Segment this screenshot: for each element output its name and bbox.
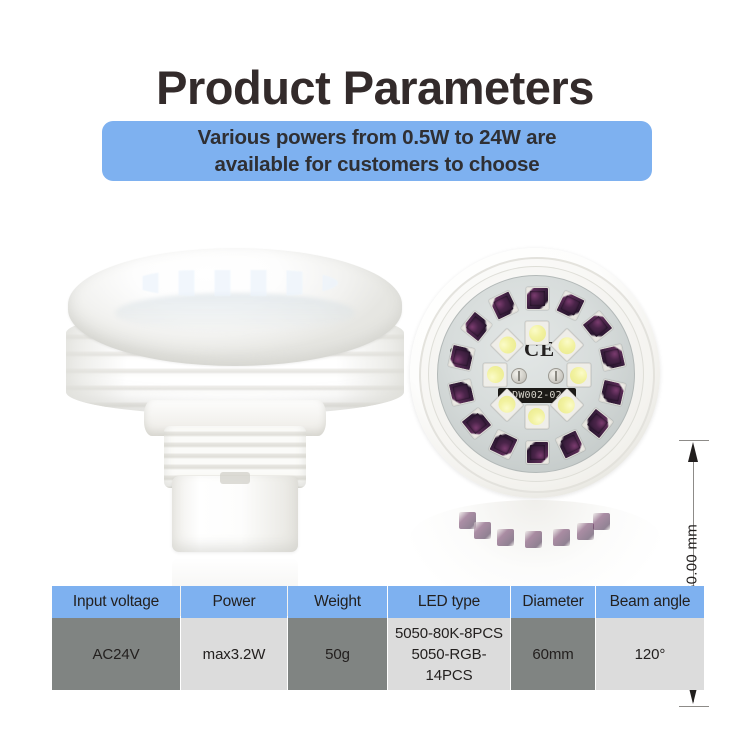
bulb-internal-leds <box>132 270 338 296</box>
reflection-led <box>497 529 514 546</box>
table-row: AC24V max3.2W 50g 5050-80K-8PCS 5050-RGB… <box>52 618 704 690</box>
powers-banner: Various powers from 0.5W to 24W are avai… <box>102 121 652 181</box>
header-led-type: LED type <box>388 586 510 618</box>
rgb-led <box>581 407 613 439</box>
value-led-type: 5050-80K-8PCS 5050-RGB-14PCS <box>388 618 510 690</box>
reflection-led <box>593 513 610 530</box>
dimension-extension-top <box>679 440 709 441</box>
rgb-led <box>598 378 626 406</box>
led-pcb: CE DW002-02 <box>437 275 635 473</box>
rgb-led <box>461 407 493 439</box>
rgb-led <box>598 344 626 372</box>
header-power: Power <box>181 586 287 618</box>
reflection-led <box>553 529 570 546</box>
value-power: max3.2W <box>181 618 287 690</box>
led-type-line-1: 5050-80K-8PCS <box>390 623 508 644</box>
led-module-front-view: CE DW002-02 <box>410 248 660 498</box>
banner-line-2: available for customers to choose <box>198 151 557 178</box>
header-beam-angle: Beam angle <box>596 586 704 618</box>
value-weight: 50g <box>288 618 387 690</box>
header-weight: Weight <box>288 586 387 618</box>
rgb-led <box>461 311 493 343</box>
rgb-led <box>448 344 476 372</box>
white-led <box>490 328 524 362</box>
banner-line-1: Various powers from 0.5W to 24W are <box>198 124 557 151</box>
value-input-voltage: AC24V <box>52 618 180 690</box>
rgb-led <box>526 441 549 464</box>
page-title: Product Parameters <box>0 60 750 116</box>
led-module-side-view <box>60 240 410 530</box>
reflection-led <box>474 522 491 539</box>
rgb-led <box>448 378 476 406</box>
table-header-row: Input voltage Power Weight LED type Diam… <box>52 586 704 618</box>
value-beam-angle: 120° <box>596 618 704 690</box>
rgb-led <box>555 290 586 321</box>
rgb-led <box>581 311 613 343</box>
arrow-up-icon <box>688 442 698 462</box>
banner-text: Various powers from 0.5W to 24W are avai… <box>198 124 557 178</box>
bulb-diffuser-dome <box>68 248 402 366</box>
rgb-led <box>555 429 586 460</box>
led-type-line-2: 5050-RGB-14PCS <box>390 644 508 686</box>
white-led <box>525 405 549 429</box>
rgb-led <box>526 287 549 310</box>
white-led <box>483 363 507 387</box>
bulb-connector-base <box>172 476 298 552</box>
pcb-screw-right <box>548 368 564 384</box>
header-input-voltage: Input voltage <box>52 586 180 618</box>
product-image-area: CE DW002-02 60.00 mm <box>0 200 750 590</box>
header-diameter: Diameter <box>511 586 595 618</box>
reflection-led <box>577 523 594 540</box>
rgb-led <box>488 290 519 321</box>
value-diameter: 60mm <box>511 618 595 690</box>
specification-table: Input voltage Power Weight LED type Diam… <box>51 586 705 690</box>
product-parameters-page: Product Parameters Various powers from 0… <box>0 0 750 750</box>
dimension-extension-bottom <box>679 706 709 707</box>
pcb-screw-left <box>511 368 527 384</box>
reflection-led <box>525 531 542 548</box>
rgb-led <box>488 429 519 460</box>
white-led <box>567 363 591 387</box>
white-led <box>525 321 549 345</box>
